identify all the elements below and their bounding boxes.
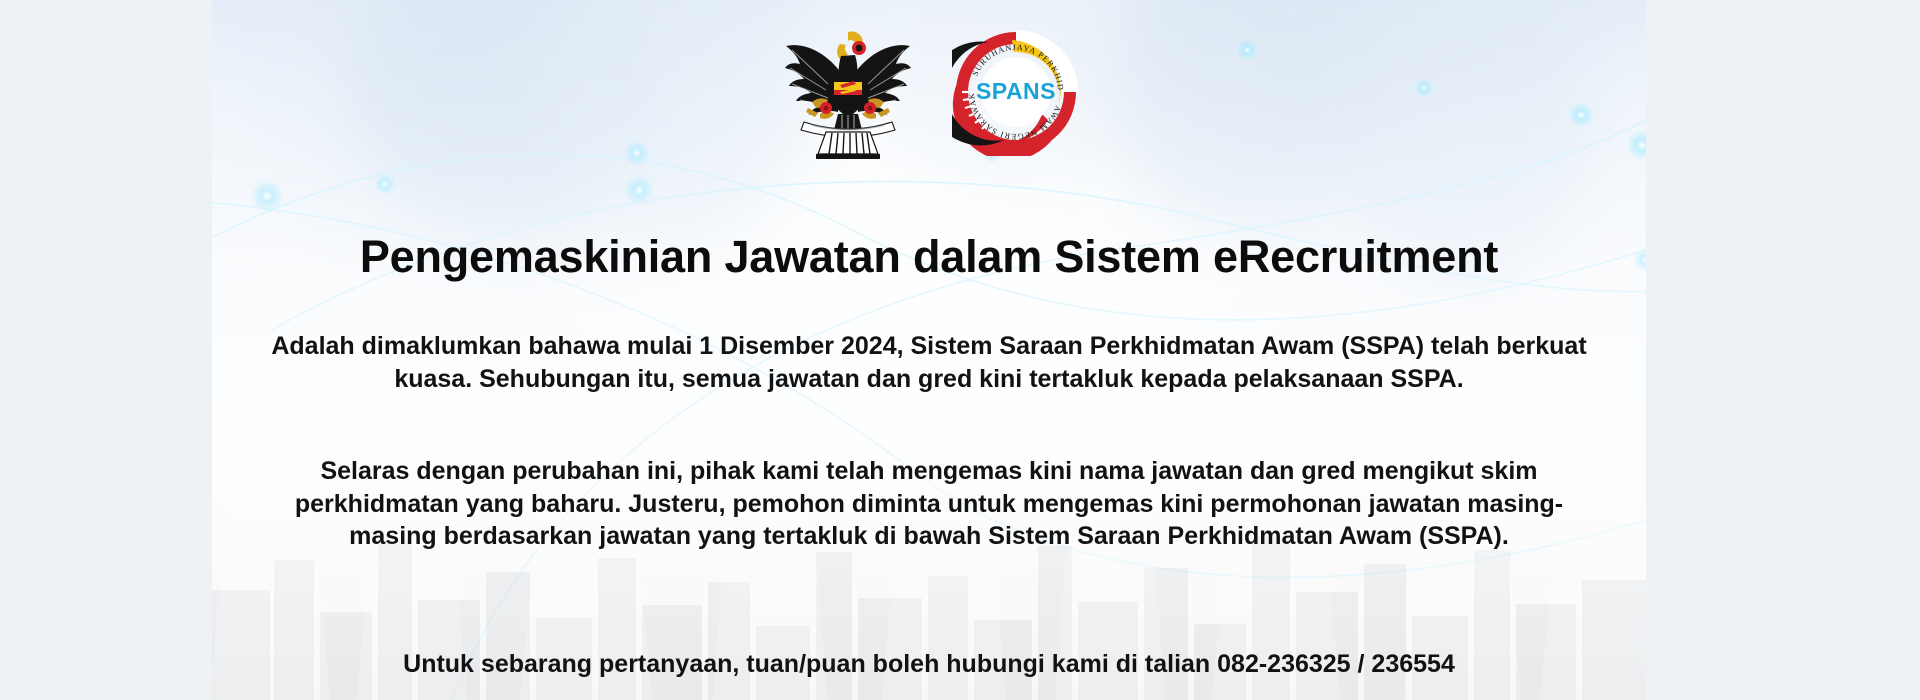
svg-text:SPANS: SPANS [976,78,1056,104]
announcement-paragraph-1: Adalah dimaklumkan bahawa mulai 1 Disemb… [212,330,1646,395]
contact-line: Untuk sebarang pertanyaan, tuan/puan bol… [212,648,1646,681]
banner-content: SURUHANJAYA PERKHIDMATAN AWAM NEGERI SAR… [212,0,1646,700]
page-title: Pengemaskinian Jawatan dalam Sistem eRec… [212,232,1646,282]
page-root: SURUHANJAYA PERKHIDMATAN AWAM NEGERI SAR… [0,0,1920,700]
logo-row: SURUHANJAYA PERKHIDMATAN AWAM NEGERI SAR… [212,22,1646,162]
spans-logo-icon: SURUHANJAYA PERKHIDMATAN AWAM NEGERI SAR… [952,28,1080,156]
sarawak-coat-of-arms-icon [778,22,918,162]
announcement-paragraph-2: Selaras dengan perubahan ini, pihak kami… [212,455,1646,553]
announcement-banner: SURUHANJAYA PERKHIDMATAN AWAM NEGERI SAR… [212,0,1646,700]
